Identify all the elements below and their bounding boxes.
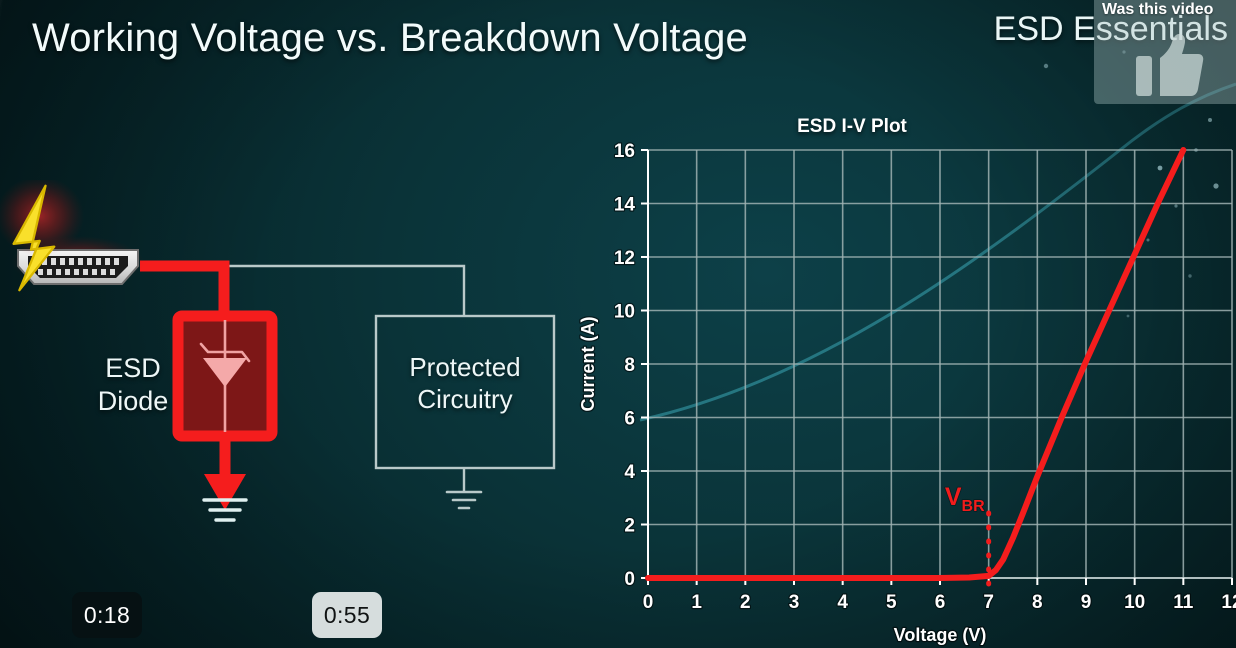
surge-path-wire	[140, 266, 224, 316]
y-tick-label: 12	[614, 248, 635, 269]
y-tick-label: 6	[624, 409, 635, 430]
x-tick-label: 2	[740, 592, 751, 613]
y-axis-title: Current (A)	[578, 317, 598, 412]
x-tick-label: 0	[643, 592, 654, 613]
y-tick-label: 10	[614, 302, 635, 323]
video-frame: Working Voltage vs. Breakdown Voltage ES…	[0, 0, 1236, 648]
x-tick-label: 12	[1221, 592, 1236, 613]
x-tick-label: 5	[886, 592, 897, 613]
esd-iv-chart: ESD I-V Plot 024681012141601234567891011…	[578, 108, 1236, 648]
y-tick-label: 4	[624, 462, 635, 483]
x-tick-label: 3	[789, 592, 800, 613]
y-tick-label: 16	[614, 141, 635, 162]
ground-symbol-icon-protected	[447, 492, 481, 508]
esd-diode-label-line2: Diode	[88, 385, 178, 418]
x-tick-label: 7	[983, 592, 994, 613]
page-title: Working Voltage vs. Breakdown Voltage	[32, 16, 748, 61]
x-tick-label: 9	[1081, 592, 1092, 613]
chart-svg: 02468101214160123456789101112Voltage (V)…	[578, 108, 1236, 648]
breakdown-voltage-marker: VBR	[945, 483, 989, 584]
thumbs-up-icon[interactable]	[1136, 34, 1204, 96]
protected-circuitry-line1: Protected	[380, 352, 550, 384]
chart-tick-labels: 02468101214160123456789101112	[614, 141, 1236, 613]
circuit-diagram: ESD Diode Protected Circuitry	[0, 180, 580, 540]
current-time-badge[interactable]: 0:18	[72, 592, 142, 638]
chart-gridlines	[648, 150, 1232, 578]
esd-diode-label: ESD Diode	[88, 352, 178, 418]
y-tick-label: 0	[624, 569, 635, 590]
signal-wire	[142, 266, 464, 316]
x-tick-label: 6	[935, 592, 946, 613]
esd-diode-box	[178, 316, 272, 436]
x-tick-label: 1	[691, 592, 702, 613]
esd-diode-label-line1: ESD	[88, 352, 178, 385]
x-tick-label: 10	[1124, 592, 1145, 613]
protected-circuitry-line2: Circuitry	[380, 384, 550, 416]
x-tick-label: 4	[837, 592, 848, 613]
x-tick-label: 8	[1032, 592, 1043, 613]
x-axis-title: Voltage (V)	[894, 625, 987, 645]
y-tick-label: 2	[624, 516, 635, 537]
protected-circuitry-label: Protected Circuitry	[380, 352, 550, 415]
survey-overlay[interactable]: Was this video	[1094, 0, 1236, 104]
breakdown-voltage-label: VBR	[945, 483, 985, 515]
total-time-badge[interactable]: 0:55	[312, 592, 382, 638]
y-tick-label: 14	[614, 195, 636, 216]
x-tick-label: 11	[1173, 592, 1194, 613]
survey-question-text: Was this video	[1102, 1, 1213, 19]
y-tick-label: 8	[624, 355, 635, 376]
